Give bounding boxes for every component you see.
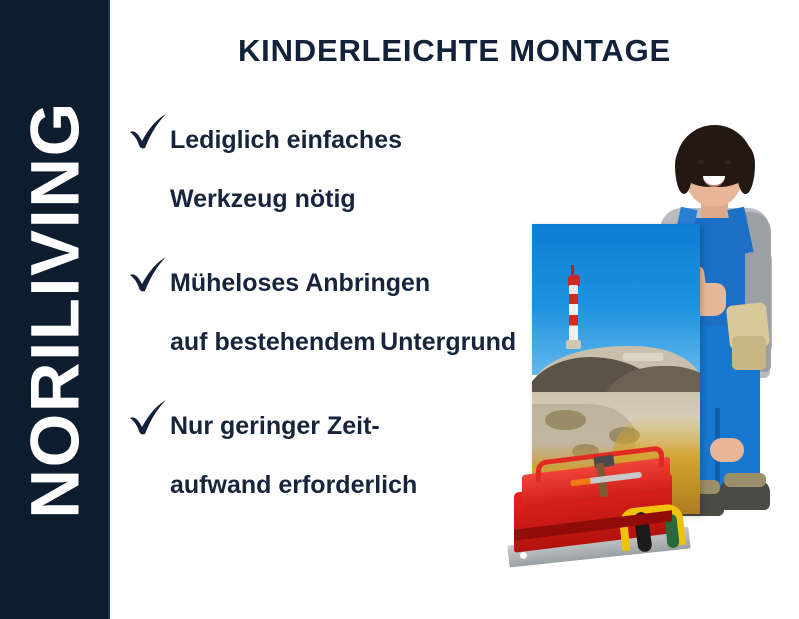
feature-list: Lediglich einfaches Werkzeug nötig Mühel… [126, 108, 526, 537]
lighthouse-base [566, 340, 581, 349]
hacksaw-blade-hole [520, 552, 527, 559]
product-photo [470, 108, 799, 619]
checkmark-icon [126, 253, 170, 295]
canvas-ridge-building [623, 353, 663, 361]
person-eye-right [724, 160, 731, 164]
canvas-scrub-a [545, 410, 585, 430]
list-item: Lediglich einfaches Werkzeug nötig [126, 108, 526, 229]
sidebar-edge-divider [108, 0, 110, 619]
list-item: Müheloses Anbringen auf bestehendem Unte… [126, 251, 526, 372]
person-boot-right-cuff [724, 473, 766, 487]
checkmark-icon [126, 110, 170, 152]
brand-name: NORILIVING [21, 101, 90, 519]
list-item-line: aufwand erforderlich [170, 471, 417, 499]
list-item: Nur geringer Zeit- aufwand erforderlich [126, 394, 526, 515]
lighthouse-antenna-icon [571, 265, 574, 276]
list-item-line: auf bestehendem [170, 328, 376, 356]
list-item-line: Lediglich einfaches [170, 126, 402, 154]
person-supporting-hand [710, 438, 744, 462]
list-item-line: Müheloses Anbringen [170, 269, 430, 297]
person-eye-left [698, 160, 705, 164]
brand-sidebar: NORILIVING [0, 0, 110, 619]
person-tool-pouch [732, 336, 766, 370]
list-item-line: Werkzeug nötig [170, 185, 356, 213]
page-title: KINDERLEICHTE MONTAGE [110, 33, 799, 69]
checkmark-icon [126, 396, 170, 438]
lighthouse-tower-icon [569, 285, 578, 341]
list-item-line: Nur geringer Zeit- [170, 412, 380, 440]
promo-banner: NORILIVING KINDERLEICHTE MONTAGE Ledigli… [0, 0, 799, 619]
person-hair-right [736, 144, 755, 194]
